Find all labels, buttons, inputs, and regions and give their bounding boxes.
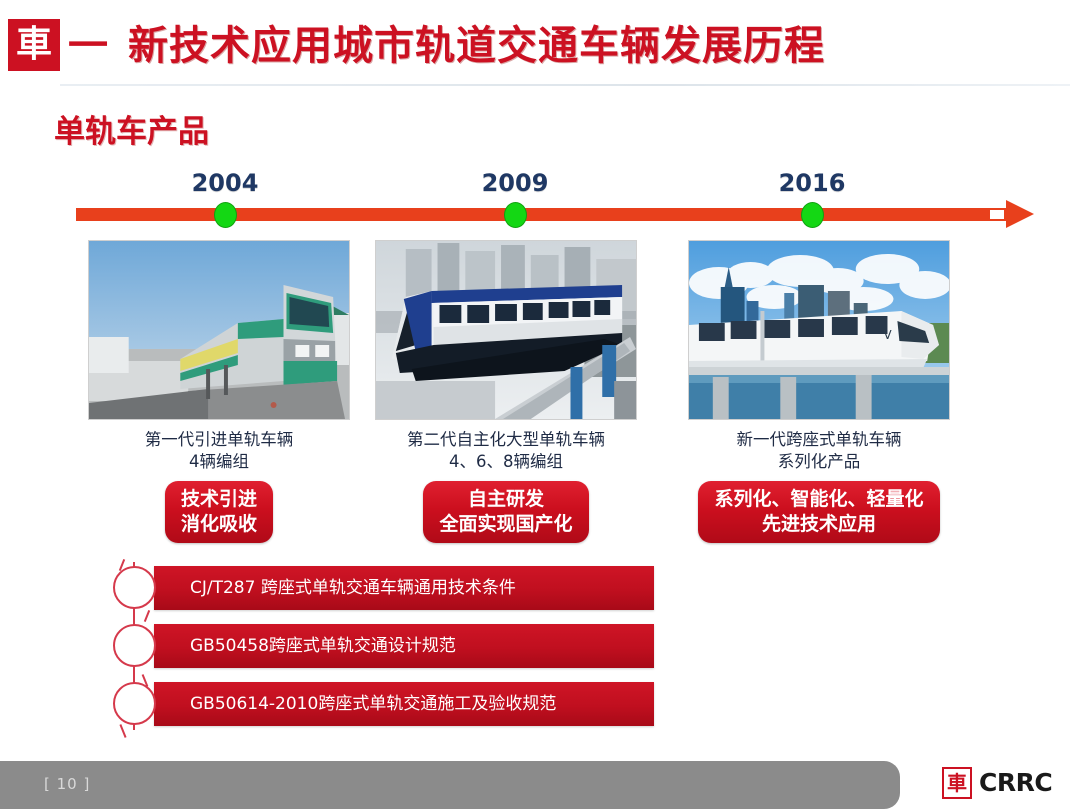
product-card-second-generation: 第二代自主化大型单轨车辆 4、6、8辆编组 自主研发 全面实现国产化	[375, 240, 637, 543]
footer-brand-logo: 車 CRRC	[942, 767, 1052, 799]
card-caption: 新一代跨座式单轨车辆 系列化产品	[688, 429, 950, 473]
card-badge-line2: 消化吸收	[181, 512, 257, 537]
card-caption-line1: 新一代跨座式单轨车辆	[688, 429, 950, 451]
card-caption-line2: 系列化产品	[688, 451, 950, 473]
section-number: 一	[68, 26, 108, 66]
monorail-photo-second-generation	[375, 240, 637, 420]
timeline-year-label: 2004	[185, 170, 265, 196]
timeline-arrowhead-icon	[1006, 200, 1034, 228]
card-badge-line1: 自主研发	[439, 487, 572, 512]
standards-bullet-icon	[113, 566, 156, 609]
card-badge-line1: 系列化、智能化、轻量化	[714, 487, 923, 512]
standards-bar[interactable]: CJ/T287 跨座式单轨交通车辆通用技术条件	[154, 566, 654, 610]
standards-label: GB50458跨座式单轨交通设计规范	[154, 635, 456, 657]
page-number: [ 10 ]	[44, 773, 90, 795]
monorail-photo-first-generation	[88, 240, 350, 420]
standards-label: CJ/T287 跨座式单轨交通车辆通用技术条件	[154, 577, 516, 599]
svg-text:V: V	[884, 328, 893, 342]
timeline-node-2004: 2004	[185, 170, 265, 228]
card-caption-line1: 第一代引进单轨车辆	[88, 429, 350, 451]
standards-list: CJ/T287 跨座式单轨交通车辆通用技术条件 GB50458跨座式单轨交通设计…	[0, 560, 1080, 740]
standards-tick	[119, 724, 126, 738]
card-badge: 技术引进 消化吸收	[165, 481, 273, 543]
card-caption-line1: 第二代自主化大型单轨车辆	[375, 429, 637, 451]
standards-bullet-icon	[113, 682, 156, 725]
card-caption: 第一代引进单轨车辆 4辆编组	[88, 429, 350, 473]
header-divider	[60, 84, 1070, 86]
card-badge-line2: 先进技术应用	[714, 512, 923, 537]
page-footer: [ 10 ] 車 CRRC	[0, 761, 1080, 809]
page-header: 車 一 新技术应用城市轨道交通车辆发展历程	[0, 0, 1080, 88]
timeline: 2004 2009 2016	[0, 170, 1080, 230]
product-card-first-generation: 第一代引进单轨车辆 4辆编组 技术引进 消化吸收	[88, 240, 350, 543]
card-caption: 第二代自主化大型单轨车辆 4、6、8辆编组	[375, 429, 637, 473]
page-title: 新技术应用城市轨道交通车辆发展历程	[128, 20, 825, 72]
card-caption-line2: 4辆编组	[88, 451, 350, 473]
product-cards: 第一代引进单轨车辆 4辆编组 技术引进 消化吸收	[0, 240, 1080, 540]
monorail-photo-new-generation: V	[688, 240, 950, 420]
section-subtitle: 单轨车产品	[54, 112, 209, 152]
standards-bar[interactable]: GB50458跨座式单轨交通设计规范	[154, 624, 654, 668]
timeline-year-label: 2009	[475, 170, 555, 196]
card-badge: 系列化、智能化、轻量化 先进技术应用	[698, 481, 939, 543]
timeline-dot-icon	[214, 202, 237, 228]
standards-label: GB50614-2010跨座式单轨交通施工及验收规范	[154, 693, 556, 715]
timeline-node-2009: 2009	[475, 170, 555, 228]
footer-bar	[0, 761, 900, 809]
standards-bullet-icon	[113, 624, 156, 667]
product-card-new-generation: V 新一代跨座式单轨车辆 系列化产品 系列化、智能化、轻量化 先进技术应用	[688, 240, 950, 543]
card-badge-line2: 全面实现国产化	[439, 512, 572, 537]
card-badge-line1: 技术引进	[181, 487, 257, 512]
crrc-mark-icon: 車	[942, 767, 972, 799]
timeline-dot-icon	[504, 202, 527, 228]
standards-tick	[144, 610, 150, 622]
timeline-node-2016: 2016	[772, 170, 852, 228]
timeline-dot-icon	[801, 202, 824, 228]
card-caption-line2: 4、6、8辆编组	[375, 451, 637, 473]
standards-bar[interactable]: GB50614-2010跨座式单轨交通施工及验收规范	[154, 682, 654, 726]
card-badge: 自主研发 全面实现国产化	[423, 481, 588, 543]
timeline-notch	[990, 210, 1004, 219]
timeline-year-label: 2016	[772, 170, 852, 196]
crrc-logo-glyph: 車	[16, 27, 52, 63]
crrc-logo-icon: 車	[8, 19, 60, 71]
crrc-wordmark: CRRC	[979, 769, 1052, 797]
standards-tick	[133, 668, 135, 680]
